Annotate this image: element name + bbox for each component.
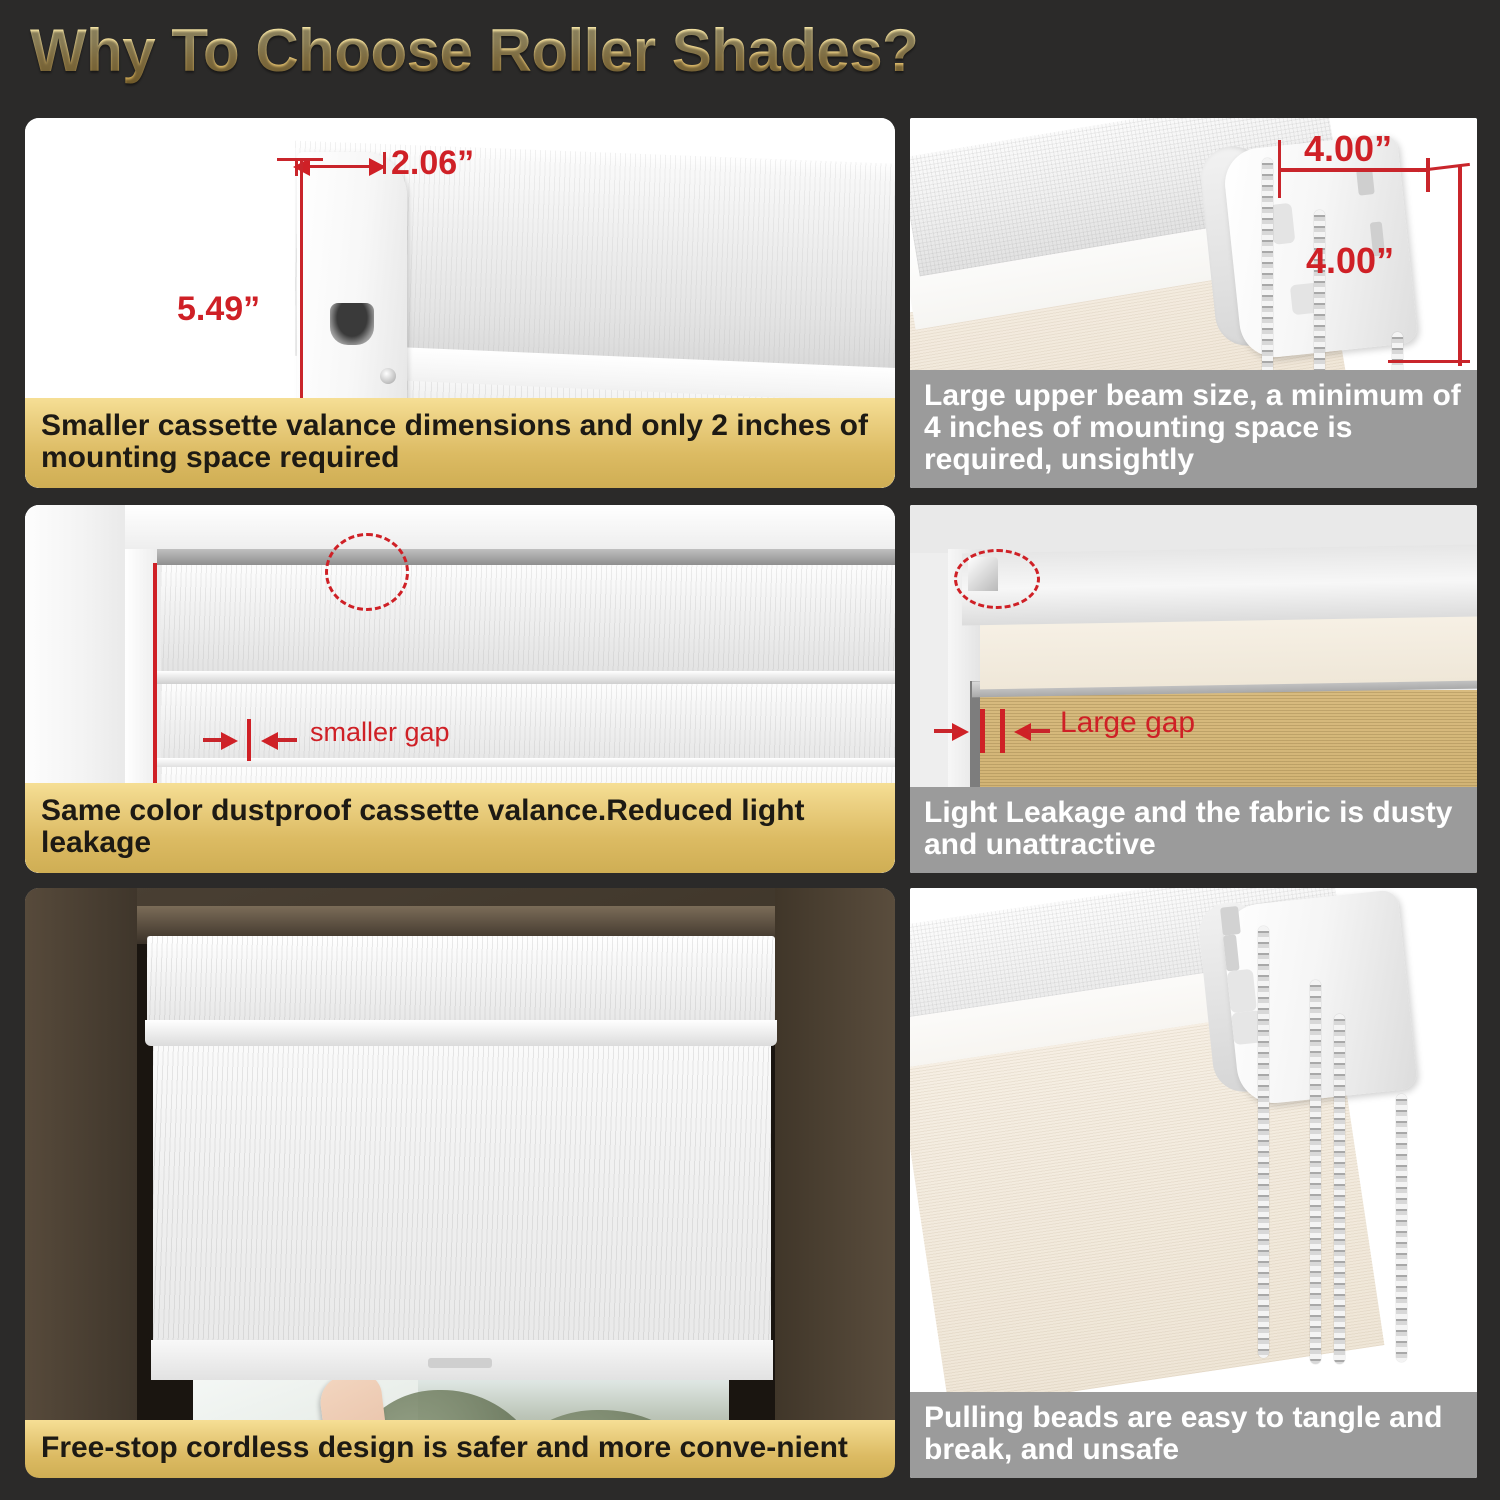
panel-cordless-design: Free-stop cordless design is safer and m…	[25, 888, 895, 1478]
panel-4-caption: Light Leakage and the fabric is dusty an…	[910, 787, 1477, 873]
panel-5-photo	[25, 888, 895, 1478]
bead-chain	[1310, 980, 1321, 1364]
panel-6-photo	[910, 888, 1477, 1478]
panel-smaller-cassette: 2.06” 5.49” Smaller cassette valance dim…	[25, 118, 895, 488]
panel-6-caption: Pulling beads are easy to tangle and bre…	[910, 1392, 1477, 1478]
panel-5-caption: Free-stop cordless design is safer and m…	[25, 1420, 895, 1478]
gap-callout-label: smaller gap	[310, 717, 450, 748]
panel-pulling-beads: Pulling beads are easy to tangle and bre…	[910, 888, 1477, 1478]
page-title: Why To Choose Roller Shades?	[30, 16, 918, 85]
panel-large-upper-beam: 4.00” 4.00” Large upper beam size, a min…	[910, 118, 1477, 488]
panel-light-leakage: Large gap Light Leakage and the fabric i…	[910, 505, 1477, 873]
cassette-valance	[147, 936, 775, 1032]
panel-1-caption: Smaller cassette valance dimensions and …	[25, 398, 895, 488]
panel-3-caption: Same color dustproof cassette valance.Re…	[25, 783, 895, 873]
bottom-rail-grip	[428, 1358, 492, 1368]
highlight-circle-icon	[325, 533, 409, 611]
cassette-slot-icon	[330, 303, 374, 345]
gap-callout-label: Large gap	[1060, 706, 1195, 740]
dimension-label-height: 5.49”	[177, 290, 260, 329]
dimension-label-width: 2.06”	[391, 144, 474, 183]
panel-2-caption: Large upper beam size, a minimum of 4 in…	[910, 370, 1477, 488]
dimension-label-height: 4.00”	[1306, 240, 1394, 282]
bead-chain	[1396, 1094, 1407, 1362]
bead-chain	[1258, 926, 1269, 1358]
panel-dustproof-valance: smaller gap Same color dustproof cassett…	[25, 505, 895, 873]
bead-chain	[1334, 1014, 1345, 1364]
highlight-circle-icon	[954, 549, 1040, 609]
dimension-label-width: 4.00”	[1304, 128, 1392, 170]
screw-icon	[380, 368, 396, 384]
infographic-root: Why To Choose Roller Shades? 2.06” 5.49”	[0, 0, 1500, 1500]
